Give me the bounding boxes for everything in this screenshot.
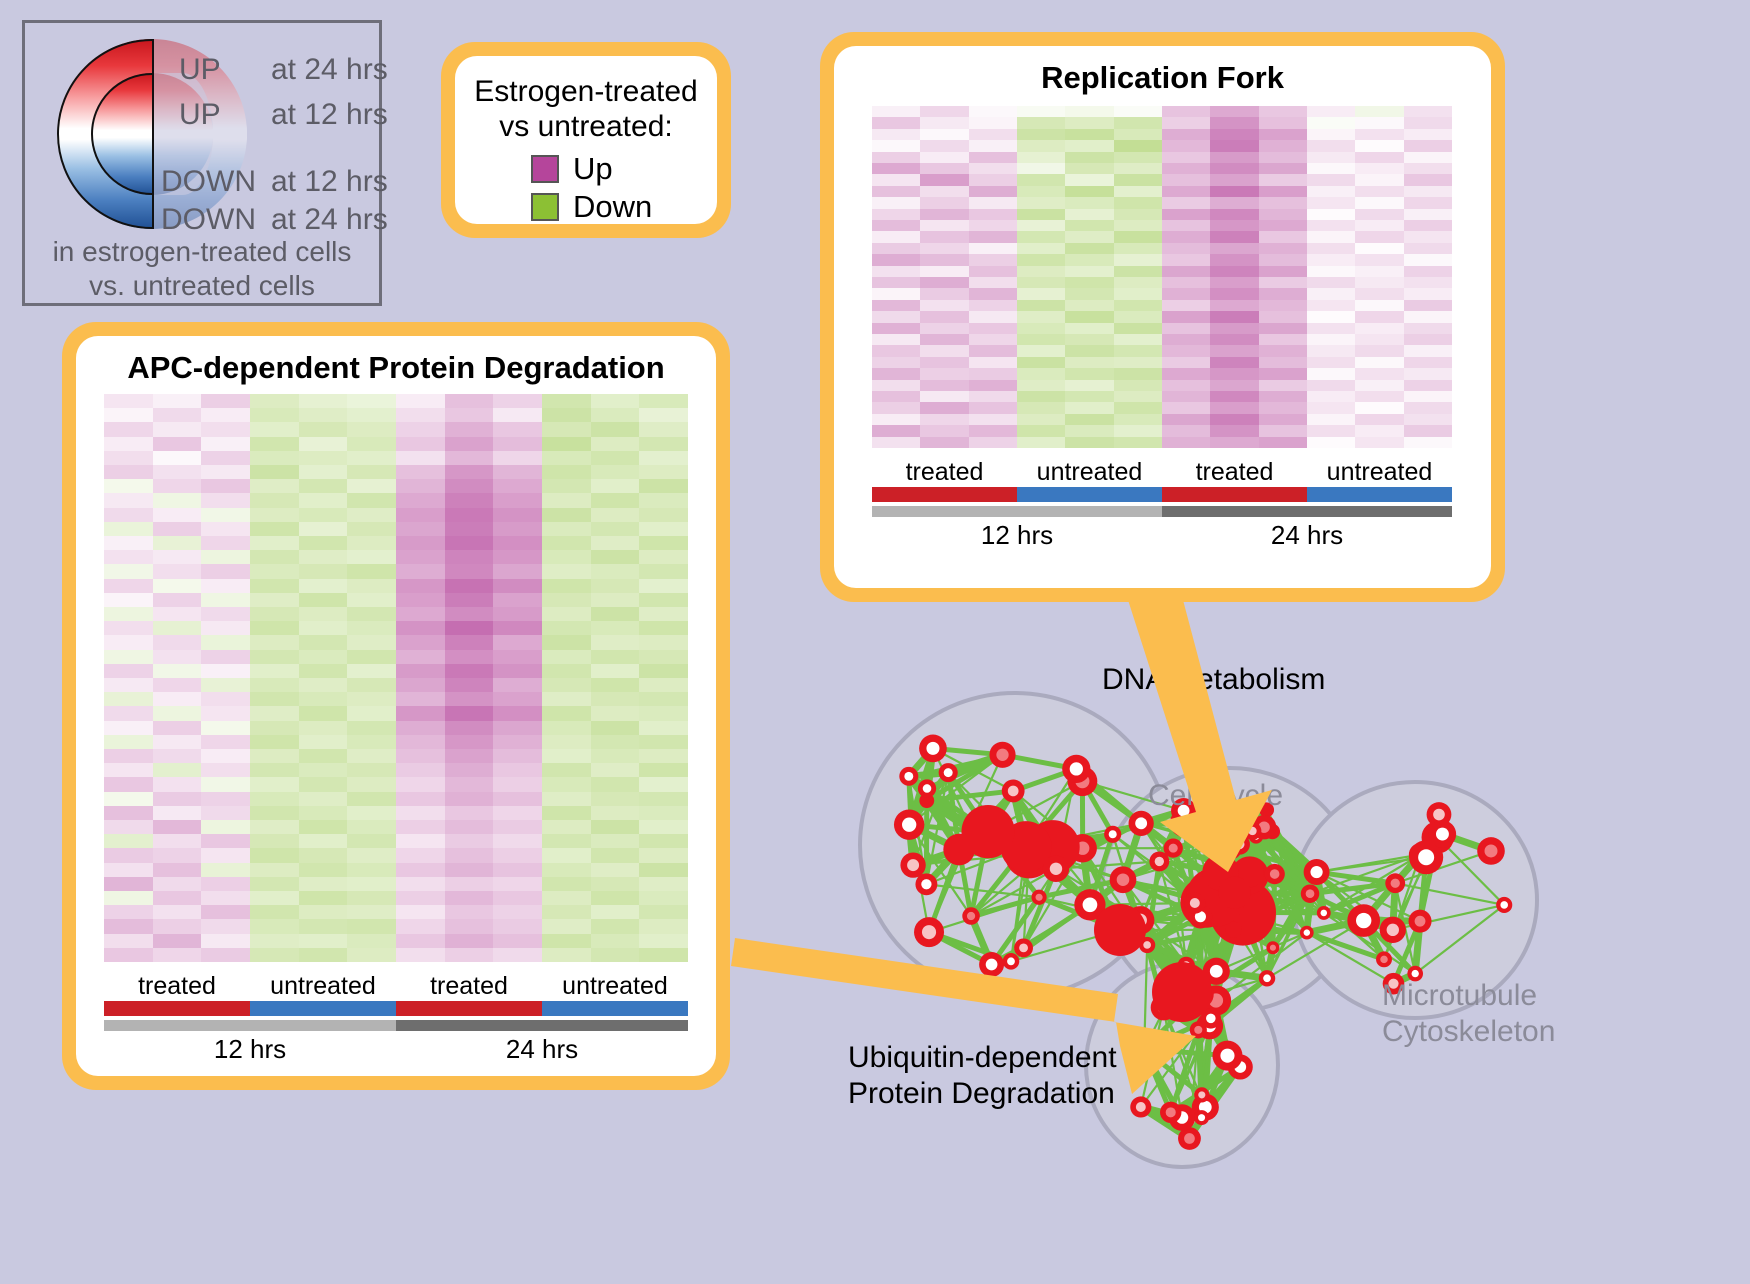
- heatmap-cell: [542, 493, 591, 507]
- heatmap-cell: [542, 735, 591, 749]
- cluster-label-ubiquitin-degradation: Ubiquitin-dependent Protein Degradation: [848, 1040, 1117, 1112]
- heatmap-cell: [1404, 311, 1452, 322]
- heatmap-cell: [104, 508, 153, 522]
- heatmap-cell: [299, 692, 348, 706]
- network-node-center: [1019, 943, 1028, 952]
- heatmap-cell: [639, 635, 688, 649]
- heatmap-cell: [872, 368, 920, 379]
- heatmap-cell: [872, 243, 920, 254]
- heatmap-cell: [639, 877, 688, 891]
- heatmap-cell: [396, 408, 445, 422]
- heatmap-cell: [104, 806, 153, 820]
- heatmap-cell: [1355, 209, 1403, 220]
- heatmap-cell: [153, 877, 202, 891]
- heatmap-cell: [1114, 391, 1162, 402]
- heatmap-cell: [1307, 425, 1355, 436]
- heatmap-cell: [1162, 323, 1210, 334]
- heatmap-cell: [872, 288, 920, 299]
- heatmap-cell: [445, 664, 494, 678]
- heatmap-cell: [1355, 402, 1403, 413]
- heatmap-cell: [347, 564, 396, 578]
- heatmap-cell: [1307, 174, 1355, 185]
- heatmap-cell: [493, 905, 542, 919]
- heatmap-cell: [542, 792, 591, 806]
- heatmap-cell: [104, 820, 153, 834]
- heatmap-cell: [920, 368, 968, 379]
- heatmap-cell: [920, 209, 968, 220]
- heatmap-cell: [1114, 254, 1162, 265]
- heatmap-cell: [542, 408, 591, 422]
- heatmap-cell: [250, 650, 299, 664]
- time-label: 24 hrs: [396, 1034, 688, 1065]
- heatmap-cell: [920, 220, 968, 231]
- heatmap-cell: [104, 621, 153, 635]
- heatmap-cell: [299, 863, 348, 877]
- heatmap-cell: [1259, 266, 1307, 277]
- heatmap-cell: [639, 579, 688, 593]
- heatmap-cell: [639, 763, 688, 777]
- heatmap-cell: [1162, 357, 1210, 368]
- heatmap-cell: [1017, 243, 1065, 254]
- heatmap-cell: [639, 792, 688, 806]
- heatmap-cell: [153, 408, 202, 422]
- heatmap-cell: [639, 749, 688, 763]
- heatmap-cell: [201, 650, 250, 664]
- heatmap-cell: [1065, 266, 1113, 277]
- direction-legend: UP at 24 hrs UP at 12 hrs DOWN at 12 hrs…: [22, 20, 382, 306]
- heatmap-cell: [1210, 129, 1258, 140]
- heatmap-cell: [639, 863, 688, 877]
- heatmap-cell: [542, 863, 591, 877]
- heatmap-cell: [969, 186, 1017, 197]
- heatmap-cell: [1162, 243, 1210, 254]
- heatmap-cell: [250, 522, 299, 536]
- treatment-legend-title-line1: Estrogen-treated: [455, 74, 717, 109]
- heatmap-cell: [153, 550, 202, 564]
- heatmap-cell: [1017, 106, 1065, 117]
- heatmap-cell: [493, 621, 542, 635]
- heatmap-cell: [1017, 117, 1065, 128]
- heatmap-cell: [1307, 334, 1355, 345]
- heatmap-cell: [347, 777, 396, 791]
- heatmap-cell: [396, 905, 445, 919]
- heatmap-cell: [250, 919, 299, 933]
- heatmap-cell: [1307, 231, 1355, 242]
- heatmap-cell: [396, 664, 445, 678]
- heatmap-cell: [153, 806, 202, 820]
- heatmap-cell: [639, 536, 688, 550]
- heatmap-cell: [872, 391, 920, 402]
- heatmap-cell: [493, 721, 542, 735]
- network-node-center: [1356, 913, 1371, 928]
- heatmap-cell: [347, 806, 396, 820]
- heatmap-cell: [445, 948, 494, 962]
- heatmap-cell: [969, 106, 1017, 117]
- heatmap-cell: [153, 692, 202, 706]
- network-node[interactable]: [1219, 877, 1251, 909]
- heatmap-cell: [542, 550, 591, 564]
- heatmap-cell: [1404, 106, 1452, 117]
- heatmap-cell: [542, 919, 591, 933]
- network-node-center: [1415, 916, 1426, 927]
- heatmap-cell: [299, 749, 348, 763]
- heatmap-cell: [445, 806, 494, 820]
- heatmap-cell: [639, 522, 688, 536]
- heatmap-cell: [445, 735, 494, 749]
- heatmap-cell: [104, 948, 153, 962]
- group-label: treated: [396, 972, 542, 1001]
- heatmap-cell: [591, 493, 640, 507]
- heatmap-cell: [104, 706, 153, 720]
- heatmap-cell: [1259, 220, 1307, 231]
- heatmap-cell: [542, 820, 591, 834]
- heatmap-cell: [1259, 437, 1307, 448]
- heatmap-cell: [1355, 277, 1403, 288]
- heatmap-cell: [104, 664, 153, 678]
- heatmap-cell: [493, 948, 542, 962]
- heatmap-cell: [1307, 345, 1355, 356]
- heatmap-cell: [591, 834, 640, 848]
- heatmap-cell: [542, 479, 591, 493]
- heatmap-cell: [1065, 323, 1113, 334]
- heatmap-cell: [396, 550, 445, 564]
- heatmap-cell: [1065, 254, 1113, 265]
- heatmap-cell: [920, 117, 968, 128]
- heatmap-cell: [445, 934, 494, 948]
- heatmap-cell: [153, 706, 202, 720]
- heatmap-cell: [299, 848, 348, 862]
- heatmap-cell: [299, 451, 348, 465]
- heatmap-cell: [299, 919, 348, 933]
- heatmap-cell: [1259, 425, 1307, 436]
- heatmap-cell: [1307, 106, 1355, 117]
- heatmap-cell: [153, 422, 202, 436]
- heatmap-cell: [872, 437, 920, 448]
- heatmap-cell: [104, 607, 153, 621]
- heatmap-cell: [920, 197, 968, 208]
- network-node-center: [1166, 1107, 1176, 1117]
- heatmap-cell: [542, 706, 591, 720]
- group-label: untreated: [1017, 458, 1162, 487]
- heatmap-cell: [591, 422, 640, 436]
- heatmap-cell: [250, 664, 299, 678]
- heatmap-cell: [1065, 414, 1113, 425]
- heatmap-cell: [639, 451, 688, 465]
- heatmap-cell: [920, 152, 968, 163]
- heatmap-cell: [542, 877, 591, 891]
- heatmap-cell: [872, 402, 920, 413]
- time-color-bars: [872, 506, 1452, 517]
- group-color-bar: [1307, 487, 1452, 502]
- heatmap-cell: [639, 437, 688, 451]
- heatmap-cell: [591, 437, 640, 451]
- heatmap-cell: [1259, 380, 1307, 391]
- heatmap-cell: [1114, 277, 1162, 288]
- heatmap-cell: [542, 834, 591, 848]
- heatmap-cell: [591, 919, 640, 933]
- heatmap-cell: [396, 650, 445, 664]
- heatmap-cell: [1355, 368, 1403, 379]
- heatmap-cell: [872, 220, 920, 231]
- heatmap-cell: [396, 735, 445, 749]
- heatmap-cell: [1162, 140, 1210, 151]
- heatmap-cell: [591, 891, 640, 905]
- heatmap-cell: [445, 465, 494, 479]
- heatmap-cell: [1355, 243, 1403, 254]
- heatmap-cell: [493, 735, 542, 749]
- heatmap-cell: [1114, 231, 1162, 242]
- heatmap-cell: [542, 721, 591, 735]
- heatmap-cell: [1065, 129, 1113, 140]
- legend-time-down-12: at 12 hrs: [271, 165, 388, 199]
- heatmap-cell: [1259, 323, 1307, 334]
- cluster-label-dna-metabolism: DNA Metabolism: [1102, 662, 1325, 698]
- heatmap-cell: [250, 635, 299, 649]
- heatmap-cell: [299, 394, 348, 408]
- heatmap-cell: [1259, 186, 1307, 197]
- heatmap-cell: [1162, 437, 1210, 448]
- heatmap-cell: [250, 408, 299, 422]
- heatmap-cell: [1065, 231, 1113, 242]
- heatmap-cell: [396, 877, 445, 891]
- heatmap-cell: [1162, 117, 1210, 128]
- network-node[interactable]: [961, 805, 1014, 858]
- heatmap-cell: [639, 692, 688, 706]
- heatmap-cell: [347, 863, 396, 877]
- network-node-center: [944, 768, 953, 777]
- heatmap-cell: [250, 706, 299, 720]
- heatmap-cell: [104, 593, 153, 607]
- heatmap-cell: [201, 593, 250, 607]
- network-node-center: [1070, 762, 1083, 775]
- heatmap-cell: [493, 479, 542, 493]
- heatmap-cell: [1017, 231, 1065, 242]
- heatmap-cell: [153, 437, 202, 451]
- heatmap-cell: [347, 934, 396, 948]
- heatmap-cell: [347, 877, 396, 891]
- heatmap-cell: [872, 152, 920, 163]
- heatmap-cell: [299, 721, 348, 735]
- heatmap-cell: [1404, 117, 1452, 128]
- heatmap-cell: [969, 140, 1017, 151]
- network-node-center: [996, 749, 1008, 761]
- heatmap-cell: [1114, 129, 1162, 140]
- heatmap-cell: [1404, 163, 1452, 174]
- heatmap-cell: [396, 948, 445, 962]
- heatmap-cell: [969, 425, 1017, 436]
- heatmap-cell: [1065, 220, 1113, 231]
- heatmap-cell: [1065, 163, 1113, 174]
- heatmap-cell: [493, 394, 542, 408]
- heatmap-cell: [969, 323, 1017, 334]
- heatmap-cell: [153, 792, 202, 806]
- heatmap-cell: [299, 891, 348, 905]
- heatmap-cell: [639, 479, 688, 493]
- heatmap-cell: [1017, 140, 1065, 151]
- heatmap-cell: [250, 536, 299, 550]
- heatmap-cell: [153, 891, 202, 905]
- heatmap-cell: [1114, 380, 1162, 391]
- heatmap-cell: [445, 394, 494, 408]
- network-node[interactable]: [1094, 904, 1146, 956]
- heatmap-cell: [201, 806, 250, 820]
- heatmap-cell: [299, 522, 348, 536]
- heatmap-cell: [1065, 380, 1113, 391]
- heatmap-cell: [1017, 357, 1065, 368]
- heatmap-cell: [104, 905, 153, 919]
- heatmap-cell: [1065, 345, 1113, 356]
- heatmap-cell: [1114, 209, 1162, 220]
- heatmap-cell: [1404, 266, 1452, 277]
- heatmap-cell: [104, 834, 153, 848]
- heatmap-cell: [542, 522, 591, 536]
- heatmap-cell: [1162, 380, 1210, 391]
- heatmap-cell: [1259, 140, 1307, 151]
- heatmap-cell: [969, 209, 1017, 220]
- heatmap-cell: [396, 891, 445, 905]
- heatmap-cell: [1114, 368, 1162, 379]
- heatmap-cell: [153, 934, 202, 948]
- group-label: untreated: [1307, 458, 1452, 487]
- heatmap-cell: [493, 493, 542, 507]
- heatmap-cell: [299, 621, 348, 635]
- heatmap-cell: [1259, 300, 1307, 311]
- group-color-bar: [1017, 487, 1162, 502]
- heatmap-cell: [347, 706, 396, 720]
- legend-direction-down-12: DOWN: [161, 165, 256, 199]
- heatmap-cell: [299, 735, 348, 749]
- network-node-center: [922, 925, 936, 939]
- ring-divider-inner: [152, 73, 154, 195]
- network-node-center: [1117, 873, 1130, 886]
- heatmap-cell: [299, 493, 348, 507]
- heatmap-cell: [201, 820, 250, 834]
- heatmap-cell: [396, 749, 445, 763]
- heatmap-cell: [872, 277, 920, 288]
- heatmap-cell: [347, 834, 396, 848]
- heatmap-cell: [1259, 334, 1307, 345]
- network-node[interactable]: [1226, 922, 1242, 938]
- legend-item-down: Down: [531, 189, 717, 225]
- heatmap-cell: [969, 334, 1017, 345]
- heatmap-cell: [396, 721, 445, 735]
- heatmap-cell: [1307, 129, 1355, 140]
- heatmap-cell: [493, 664, 542, 678]
- heatmap-cell: [299, 834, 348, 848]
- heatmap-cell: [445, 621, 494, 635]
- heatmap-cell: [1307, 197, 1355, 208]
- heatmap-cell: [591, 579, 640, 593]
- heatmap-cell: [639, 394, 688, 408]
- heatmap-cell: [1404, 197, 1452, 208]
- heatmap-cell: [250, 508, 299, 522]
- heatmap-cell: [445, 763, 494, 777]
- legend-direction-up-12: UP: [179, 98, 221, 132]
- replication-fork-axis: treateduntreatedtreateduntreated12 hrs24…: [872, 458, 1452, 551]
- heatmap-cell: [1307, 380, 1355, 391]
- heatmap-cell: [201, 635, 250, 649]
- heatmap-cell: [250, 437, 299, 451]
- heatmap-cell: [872, 117, 920, 128]
- heatmap-cell: [1307, 243, 1355, 254]
- heatmap-cell: [1355, 117, 1403, 128]
- heatmap-cell: [396, 493, 445, 507]
- heatmap-cell: [1065, 152, 1113, 163]
- network-node-center: [1263, 974, 1271, 982]
- heatmap-cell: [250, 763, 299, 777]
- heatmap-cell: [1404, 402, 1452, 413]
- heatmap-cell: [396, 394, 445, 408]
- heatmap-cell: [639, 621, 688, 635]
- heatmap-cell: [1210, 197, 1258, 208]
- heatmap-cell: [1162, 254, 1210, 265]
- heatmap-cell: [250, 863, 299, 877]
- heatmap-cell: [299, 437, 348, 451]
- heatmap-cell: [1017, 163, 1065, 174]
- heatmap-cell: [969, 414, 1017, 425]
- heatmap-cell: [299, 564, 348, 578]
- heatmap-cell: [347, 593, 396, 607]
- network-node[interactable]: [1152, 962, 1212, 1022]
- heatmap-cell: [1114, 323, 1162, 334]
- heatmap-cell: [542, 593, 591, 607]
- heatmap-cell: [153, 522, 202, 536]
- heatmap-cell: [1162, 152, 1210, 163]
- heatmap-cell: [347, 692, 396, 706]
- heatmap-cell: [201, 678, 250, 692]
- heatmap-cell: [920, 266, 968, 277]
- network-node-center: [1206, 1014, 1216, 1024]
- network-node-center: [1008, 786, 1019, 797]
- heatmap-cell: [1065, 300, 1113, 311]
- heatmap-cell: [639, 721, 688, 735]
- heatmap-cell: [153, 919, 202, 933]
- heatmap-cell: [1114, 311, 1162, 322]
- heatmap-cell: [104, 848, 153, 862]
- heatmap-cell: [1404, 254, 1452, 265]
- heatmap-cell: [1210, 345, 1258, 356]
- heatmap-cell: [1114, 345, 1162, 356]
- heatmap-cell: [201, 721, 250, 735]
- legend-direction-up-24: UP: [179, 53, 221, 87]
- network-node-center: [1418, 849, 1434, 865]
- heatmap-cell: [104, 735, 153, 749]
- heatmap-cell: [1017, 300, 1065, 311]
- heatmap-cell: [872, 414, 920, 425]
- heatmap-cell: [201, 607, 250, 621]
- heatmap-cell: [347, 522, 396, 536]
- heatmap-cell: [153, 749, 202, 763]
- heatmap-cell: [396, 934, 445, 948]
- heatmap-cell: [969, 380, 1017, 391]
- heatmap-cell: [920, 437, 968, 448]
- heatmap-cell: [396, 451, 445, 465]
- heatmap-cell: [591, 692, 640, 706]
- heatmap-cell: [250, 692, 299, 706]
- heatmap-cell: [299, 877, 348, 891]
- network-node-center: [1083, 897, 1098, 912]
- heatmap-cell: [1162, 106, 1210, 117]
- heatmap-cell: [1259, 288, 1307, 299]
- heatmap-cell: [920, 300, 968, 311]
- heatmap-cell: [104, 777, 153, 791]
- heatmap-cell: [920, 402, 968, 413]
- legend-time-down-24: at 24 hrs: [271, 203, 388, 237]
- heatmap-cell: [1355, 288, 1403, 299]
- heatmap-cell: [872, 209, 920, 220]
- group-label: untreated: [542, 972, 688, 1001]
- network-node-center: [1138, 1043, 1150, 1055]
